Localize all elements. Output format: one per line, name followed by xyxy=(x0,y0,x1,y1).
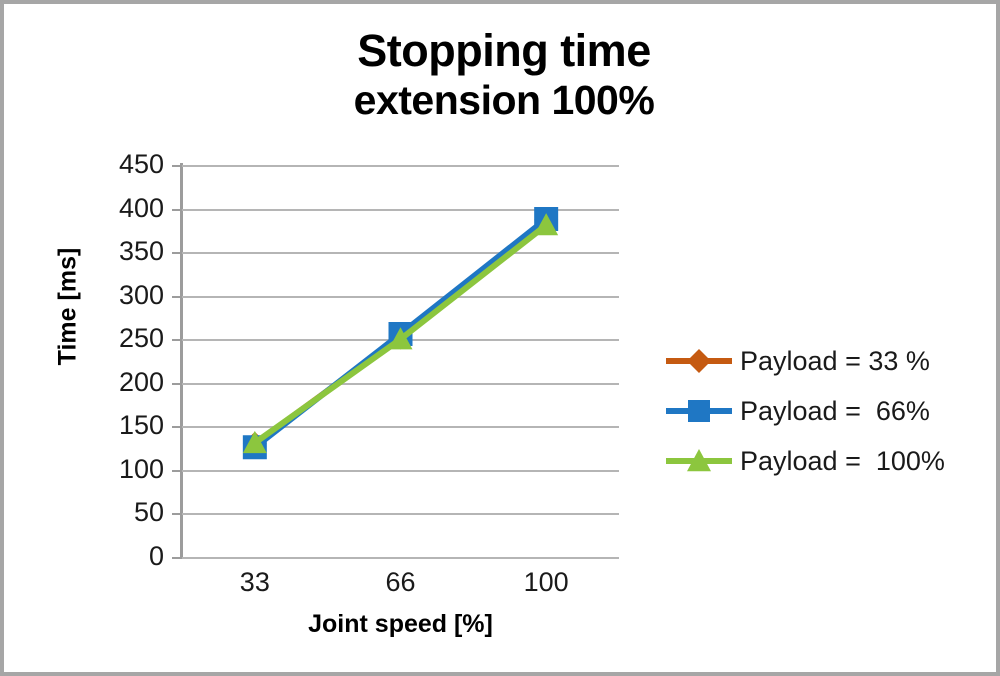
y-axis-tick-mark xyxy=(172,209,181,211)
gridline xyxy=(182,339,619,341)
gridline xyxy=(182,557,619,559)
gridline xyxy=(182,209,619,211)
y-axis-tick-labels: 450400350300250200150100500 xyxy=(100,4,164,676)
legend-item[interactable]: Payload = 100% xyxy=(664,436,994,485)
y-axis-tick-mark xyxy=(172,252,181,254)
x-axis-title: Joint speed [%] xyxy=(182,610,619,639)
y-axis-tick-label: 0 xyxy=(100,543,164,570)
chart-figure: Stopping time extension 100% Time [ms] 4… xyxy=(0,0,1000,676)
x-axis-tick-label: 66 xyxy=(341,567,461,597)
gridline xyxy=(182,426,619,428)
legend-item[interactable]: Payload = 33 % xyxy=(664,336,994,385)
y-axis-tick-label: 400 xyxy=(100,195,164,222)
y-axis-tick-mark xyxy=(172,296,181,298)
y-axis-title: Time [ms] xyxy=(54,237,83,377)
diamond-marker-icon xyxy=(664,346,734,376)
y-axis-tick-mark xyxy=(172,426,181,428)
y-axis-tick-label: 100 xyxy=(100,456,164,483)
y-axis-tick-mark xyxy=(172,557,181,559)
y-axis-tick-label: 50 xyxy=(100,499,164,526)
gridline xyxy=(182,383,619,385)
chart-legend: Payload = 33 %Payload = 66%Payload = 100… xyxy=(664,336,994,486)
y-axis-tick-mark xyxy=(172,513,181,515)
y-axis-tick-mark xyxy=(172,470,181,472)
triangle-marker-icon xyxy=(664,446,734,476)
y-axis-tick-label: 200 xyxy=(100,369,164,396)
gridline xyxy=(182,165,619,167)
legend-item[interactable]: Payload = 66% xyxy=(664,386,994,435)
plot-area xyxy=(182,165,619,557)
y-axis-tick-label: 300 xyxy=(100,282,164,309)
gridline xyxy=(182,296,619,298)
legend-label: Payload = 33 % xyxy=(734,346,930,376)
gridline xyxy=(182,252,619,254)
legend-label: Payload = 100% xyxy=(734,446,945,476)
square-marker-icon xyxy=(664,396,734,426)
y-axis-tick-label: 350 xyxy=(100,238,164,265)
y-axis-tick-label: 250 xyxy=(100,325,164,352)
legend-label: Payload = 66% xyxy=(734,396,930,426)
y-axis-tick-mark xyxy=(172,339,181,341)
x-axis-tick-label: 100 xyxy=(486,567,606,597)
gridline xyxy=(182,513,619,515)
y-axis-tick-label: 450 xyxy=(100,151,164,178)
x-axis-tick-label: 33 xyxy=(195,567,315,597)
y-axis-tick-mark xyxy=(172,383,181,385)
y-axis-tick-label: 150 xyxy=(100,412,164,439)
y-axis-tick-mark xyxy=(172,165,181,167)
gridline xyxy=(182,470,619,472)
